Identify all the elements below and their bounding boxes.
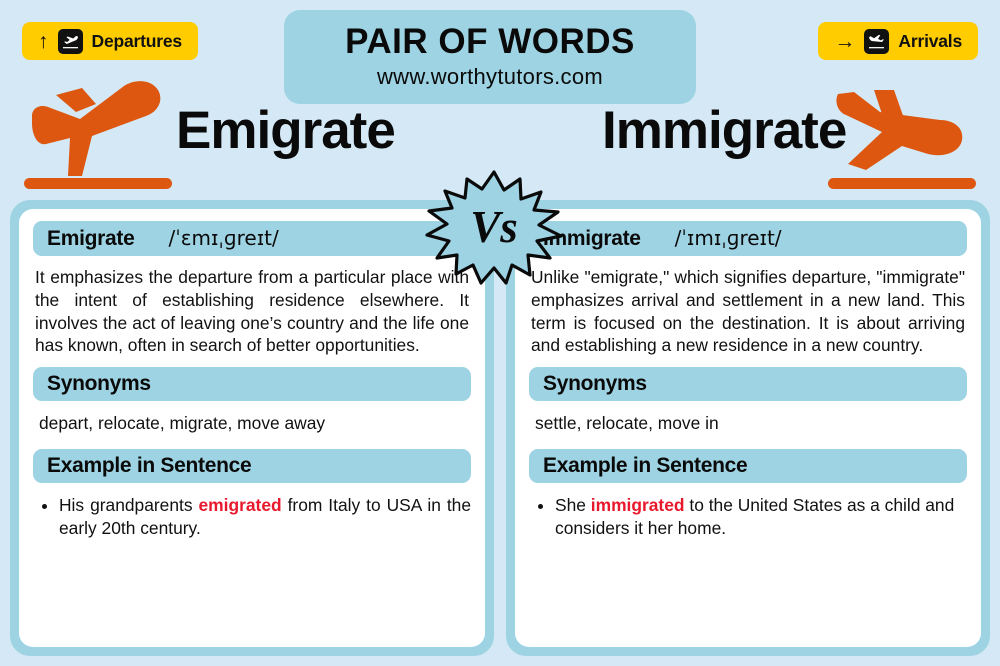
immigrate-example-list: She immigrated to the United States as a…	[529, 494, 967, 540]
emigrate-panel: Emigrate /ˈɛmɪˌɡreɪt/ It emphasizes the …	[10, 200, 494, 656]
up-arrow-icon: ↑	[38, 31, 49, 52]
departing-plane-illustration	[20, 72, 180, 177]
arrivals-label: Arrivals	[898, 31, 962, 52]
emigrate-example-highlight: emigrated	[199, 495, 282, 515]
right-word-title: Immigrate	[602, 104, 846, 157]
arriving-plane-illustration	[820, 90, 980, 182]
immigrate-pronunciation: /ˈɪmɪˌɡreɪt/	[675, 226, 782, 250]
vs-burst-badge: Vs	[424, 170, 564, 285]
runway-line-right	[828, 178, 976, 189]
plane-takeoff-icon	[58, 29, 83, 54]
immigrate-example-highlight: immigrated	[591, 495, 685, 515]
right-arrow-icon: →	[834, 31, 855, 52]
immigrate-card: Immigrate /ˈɪmɪˌɡreɪt/ Unlike "emigrate,…	[515, 209, 981, 647]
vs-label: Vs	[470, 202, 518, 252]
list-item: She immigrated to the United States as a…	[555, 494, 967, 540]
immigrate-synonyms-header: Synonyms	[529, 367, 967, 401]
emigrate-example-list: His grandparents emigrated from Italy to…	[33, 494, 471, 540]
immigrate-word-header: Immigrate /ˈɪmɪˌɡreɪt/	[529, 221, 967, 256]
immigrate-panel: Immigrate /ˈɪmɪˌɡreɪt/ Unlike "emigrate,…	[506, 200, 990, 656]
emigrate-synonyms-header: Synonyms	[33, 367, 471, 401]
emigrate-pronunciation: /ˈɛmɪˌɡreɪt/	[168, 226, 278, 250]
emigrate-word: Emigrate	[47, 227, 134, 251]
arrivals-badge[interactable]: → Arrivals	[818, 22, 978, 60]
left-word-title: Emigrate	[176, 104, 395, 157]
immigrate-example-label: Example in Sentence	[543, 454, 747, 478]
emigrate-example-label: Example in Sentence	[47, 454, 251, 478]
emigrate-word-header: Emigrate /ˈɛmɪˌɡreɪt/	[33, 221, 471, 256]
runway-line-left	[24, 178, 172, 189]
emigrate-definition: It emphasizes the departure from a parti…	[33, 266, 471, 357]
emigrate-synonyms: depart, relocate, migrate, move away	[33, 413, 471, 434]
emigrate-card: Emigrate /ˈɛmɪˌɡreɪt/ It emphasizes the …	[19, 209, 485, 647]
departures-label: Departures	[92, 31, 182, 52]
emigrate-example-header: Example in Sentence	[33, 449, 471, 483]
departures-badge[interactable]: ↑ Departures	[22, 22, 198, 60]
list-item: His grandparents emigrated from Italy to…	[59, 494, 471, 540]
emigrate-synonyms-label: Synonyms	[47, 372, 151, 396]
page-title: PAIR OF WORDS	[345, 24, 635, 61]
immigrate-synonyms: settle, relocate, move in	[529, 413, 967, 434]
emigrate-example-before: His grandparents	[59, 495, 199, 515]
immigrate-example-header: Example in Sentence	[529, 449, 967, 483]
immigrate-example-before: She	[555, 495, 591, 515]
immigrate-synonyms-label: Synonyms	[543, 372, 647, 396]
hero-section: Emigrate Vs Immigrate	[0, 72, 1000, 200]
immigrate-definition: Unlike "emigrate," which signifies depar…	[529, 266, 967, 357]
plane-landing-icon	[864, 29, 889, 54]
